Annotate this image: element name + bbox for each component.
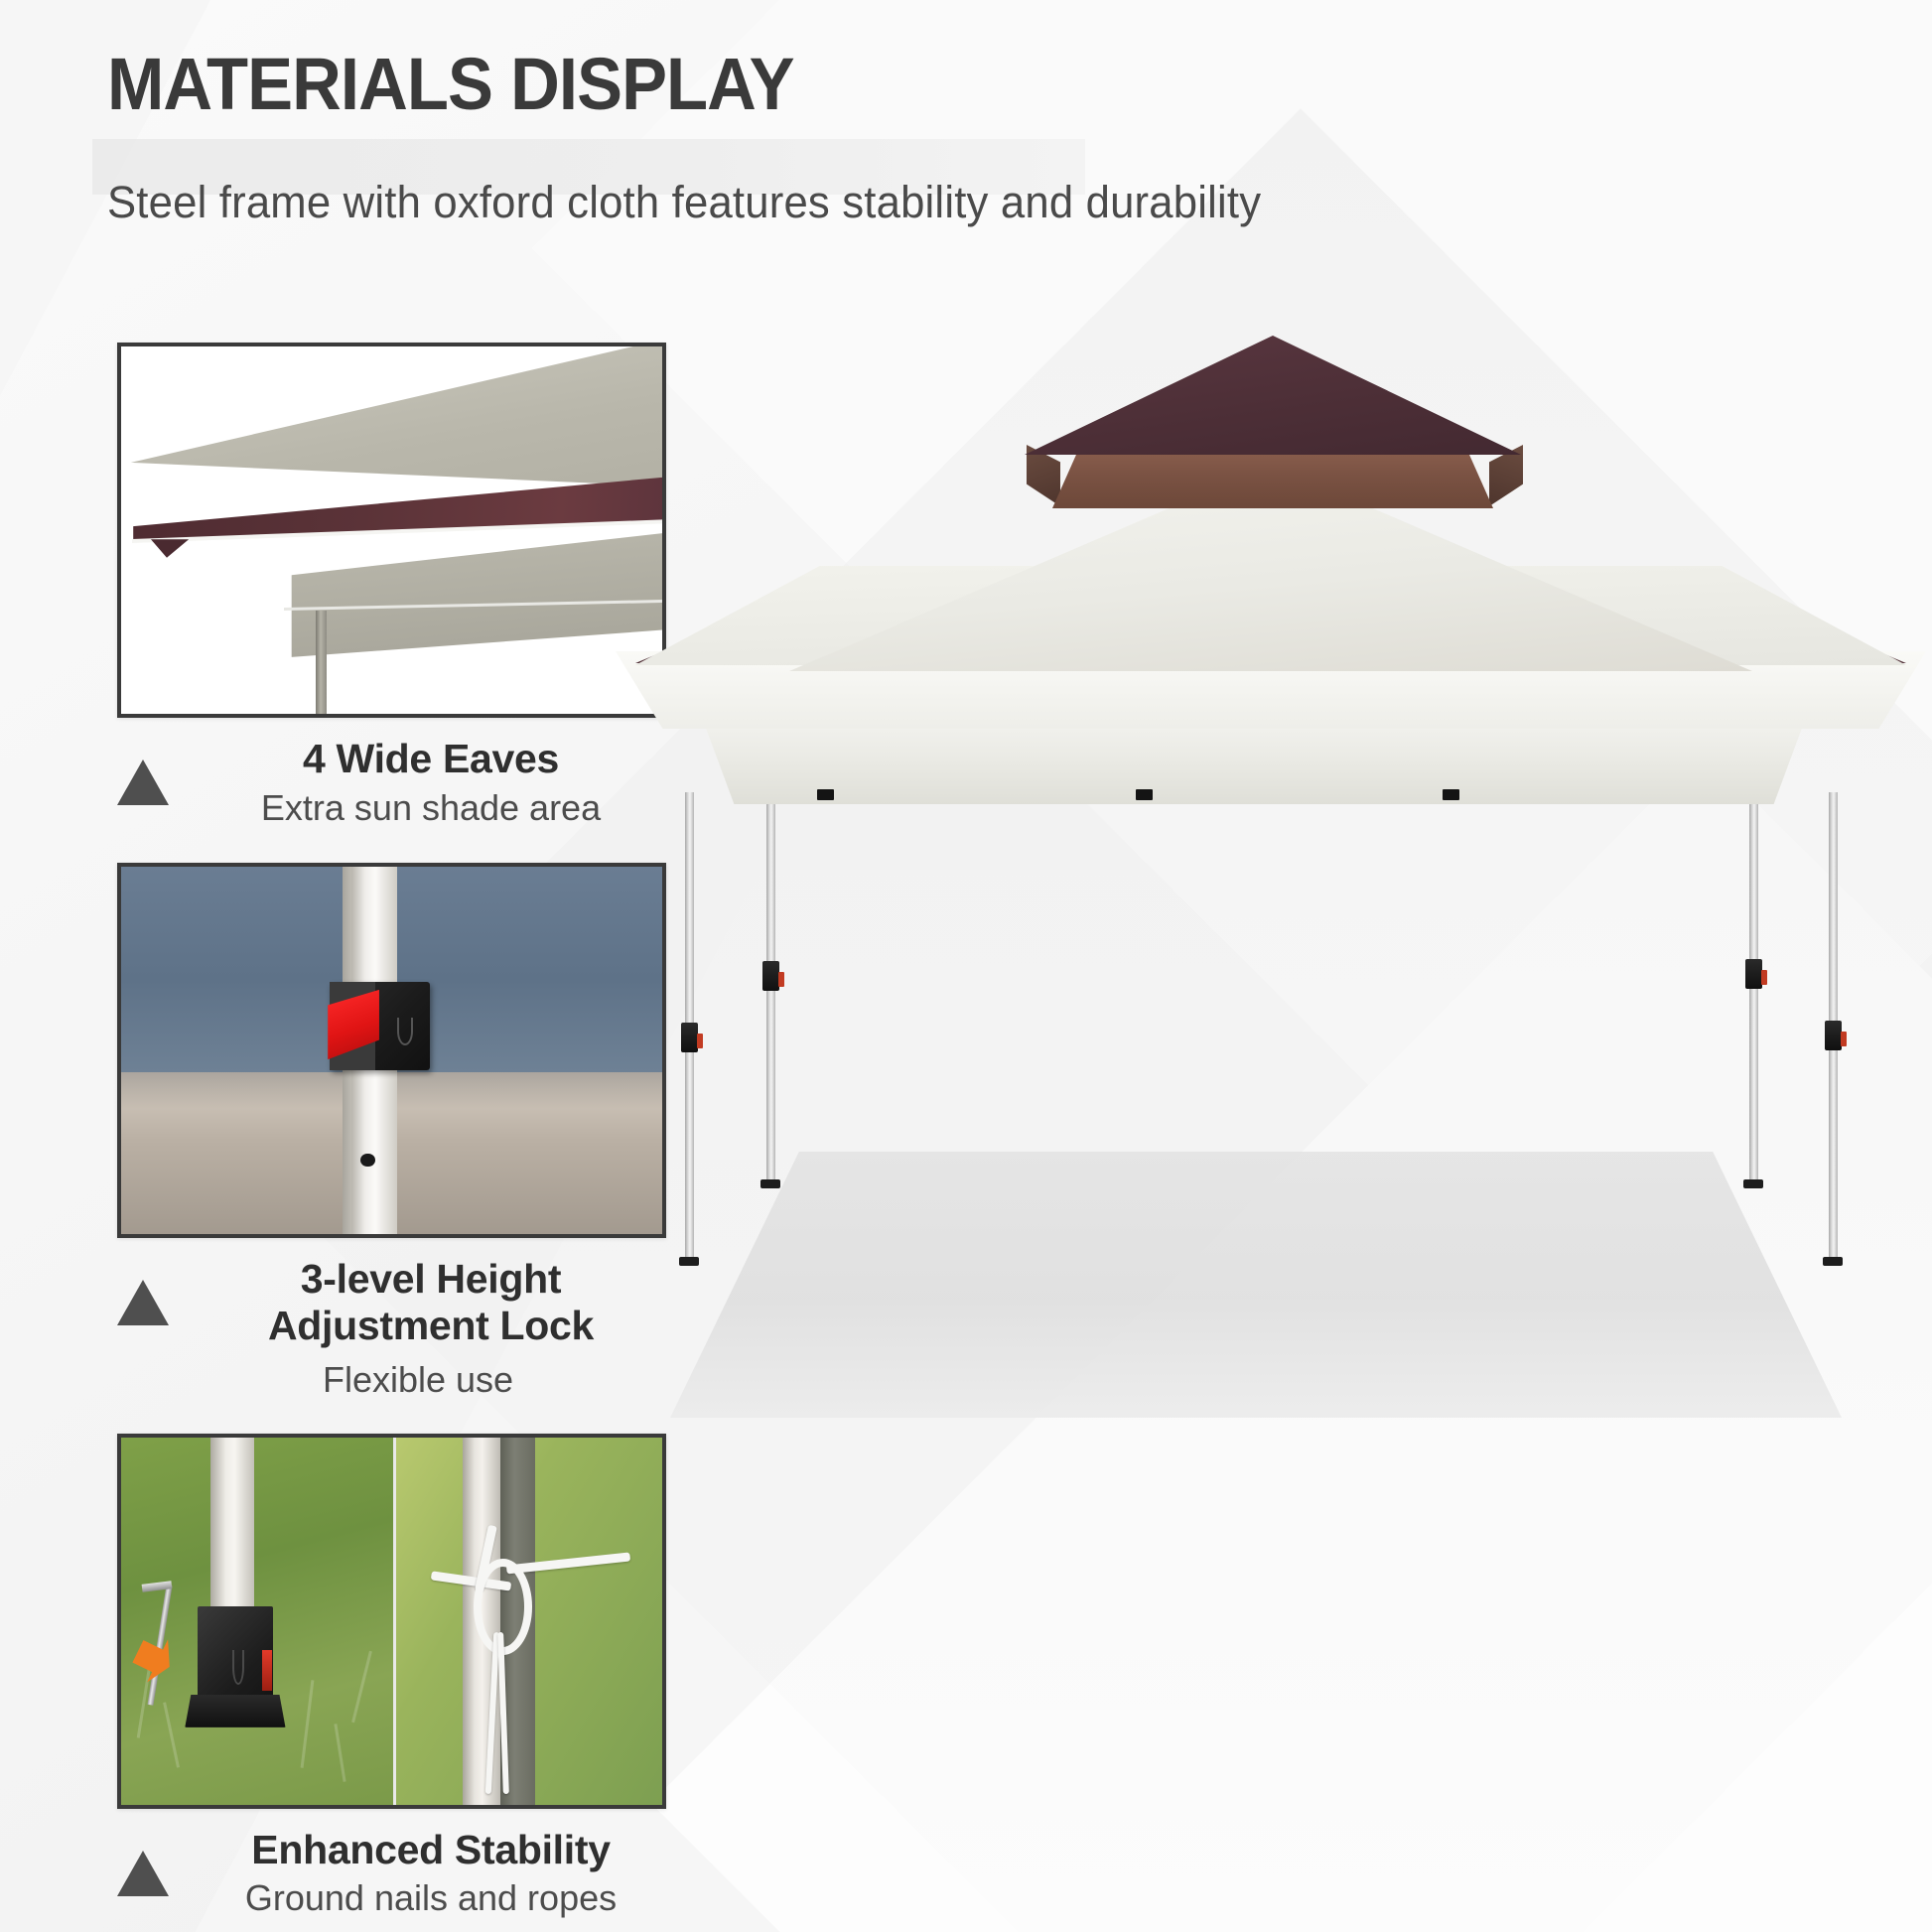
leg-foot-mid-right — [1743, 1179, 1763, 1188]
lock-red-tab — [1761, 970, 1767, 985]
feature-title-line2: Adjustment Lock — [268, 1303, 594, 1349]
leg-base-plate — [185, 1695, 285, 1727]
height-lock-mid-left — [762, 961, 779, 991]
vent-mesh-band — [1052, 449, 1493, 508]
valance-clip — [1136, 789, 1153, 800]
height-lock-mid-right — [1745, 959, 1762, 989]
product-image-gazebo — [616, 556, 1926, 1608]
photo-left-ground-stake — [121, 1438, 393, 1805]
valance-clip — [817, 789, 834, 800]
page-subtitle: Steel frame with oxford cloth features s… — [107, 177, 1455, 228]
grass-blade — [351, 1651, 372, 1724]
feature-list: 4 Wide Eaves Extra sun shade area 3-leve… — [117, 343, 673, 1920]
leg-foot-front-left — [679, 1257, 699, 1266]
leg-foot-mid-left — [760, 1179, 780, 1188]
feature-subtitle: Extra sun shade area — [261, 786, 601, 829]
feature-caption-height-lock: 3-level Height Adjustment Lock — [117, 1256, 673, 1348]
feature-caption-wide-eaves: 4 Wide Eaves Extra sun shade area — [117, 736, 673, 829]
feature-photo-enhanced-stability — [117, 1434, 666, 1809]
photo-split-divider — [393, 1438, 396, 1805]
triangle-marker-icon — [117, 1851, 169, 1896]
lock-keyhole-slot — [397, 1018, 413, 1045]
feature-title: 4 Wide Eaves — [303, 736, 559, 782]
product-ground-shadow — [670, 1152, 1842, 1418]
feature-subtitle: Flexible use — [117, 1358, 673, 1401]
feature-photo-wide-eaves — [117, 343, 666, 718]
leg-foot-front-right — [1823, 1257, 1843, 1266]
gazebo-leg — [316, 611, 327, 718]
feature-item-wide-eaves: 4 Wide Eaves Extra sun shade area — [117, 343, 673, 829]
grass-blade — [334, 1724, 345, 1782]
feature-item-height-lock: 3-level Height Adjustment Lock Flexible … — [117, 863, 673, 1402]
lock-red-tab — [778, 972, 784, 987]
triangle-marker-icon — [117, 759, 169, 805]
lock-red-tab — [697, 1034, 703, 1048]
lock-red-tab — [1841, 1032, 1847, 1046]
feature-item-enhanced-stability: Enhanced Stability Ground nails and rope… — [117, 1434, 673, 1920]
grass-blade — [163, 1702, 180, 1767]
page-title: MATERIALS DISPLAY — [107, 48, 1400, 121]
feature-subtitle: Ground nails and ropes — [245, 1876, 617, 1919]
feature-title: Enhanced Stability — [251, 1827, 610, 1873]
feature-photo-height-lock — [117, 863, 666, 1238]
feature-caption-enhanced-stability: Enhanced Stability Ground nails and rope… — [117, 1827, 673, 1920]
height-lock-front-right — [1825, 1021, 1842, 1050]
pole-adjustment-hole — [360, 1154, 374, 1167]
height-lock-front-left — [681, 1023, 698, 1052]
foot-red-tab — [262, 1650, 272, 1691]
valance-clip — [1443, 789, 1459, 800]
triangle-marker-icon — [117, 1280, 169, 1325]
page-header: MATERIALS DISPLAY Steel frame with oxfor… — [107, 48, 1497, 228]
feature-title-line1: 3-level Height — [301, 1256, 561, 1303]
grass-blade — [301, 1680, 315, 1768]
